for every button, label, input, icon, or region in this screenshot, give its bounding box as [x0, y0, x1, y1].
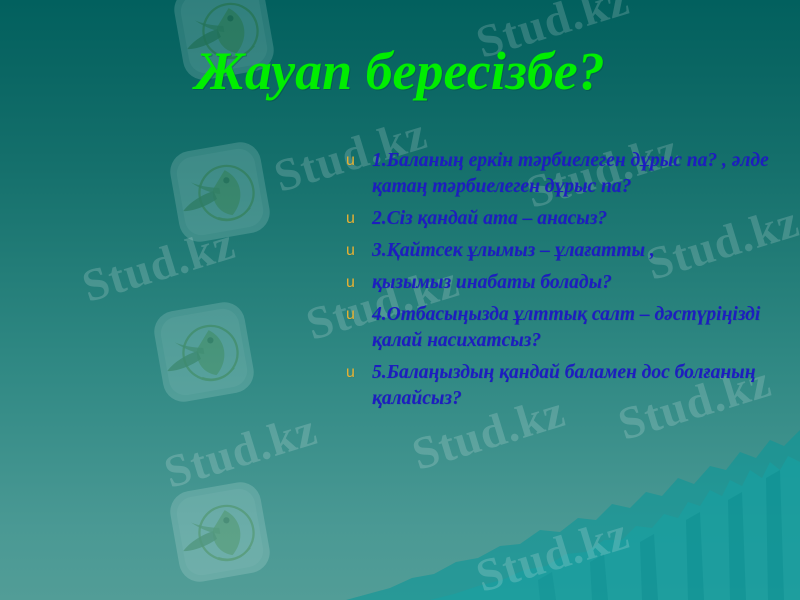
list-item: u 3.Қайтсек ұлымыз – ұлағатты , — [340, 238, 780, 264]
list-item-label: 2.Сіз қандай ата – анасыз? — [372, 208, 607, 229]
bullet-marker-icon: u — [346, 240, 355, 262]
list-item-label: 1.Баланың еркін тәрбиелеген дұрыс па? , … — [372, 150, 769, 197]
list-item-label: қызымыз инабаты болады? — [372, 272, 612, 293]
bullet-marker-icon: u — [346, 150, 355, 172]
bullet-marker-icon: u — [346, 304, 355, 326]
slide-title: Жауап бересізбе? — [0, 40, 800, 102]
bullet-marker-icon: u — [346, 272, 355, 294]
list-item-label: 4.Отбасыңызда ұлттық салт – дәстүріңізді… — [372, 304, 760, 351]
bullet-marker-icon: u — [346, 362, 355, 384]
slide-canvas: Stud.kz Stud.kz Stud.kz Stud.kz Stud.kz … — [0, 0, 800, 600]
list-item: u 4.Отбасыңызда ұлттық салт – дәстүріңіз… — [340, 302, 780, 354]
list-item: u 2.Сіз қандай ата – анасыз? — [340, 206, 780, 232]
question-bullet-list: u 1.Баланың еркін тәрбиелеген дұрыс па? … — [340, 148, 780, 418]
list-item: u қызымыз инабаты болады? — [340, 270, 780, 296]
list-item: u 1.Баланың еркін тәрбиелеген дұрыс па? … — [340, 148, 780, 200]
list-item-label: 3.Қайтсек ұлымыз – ұлағатты , — [372, 240, 655, 261]
slide-content: Жауап бересізбе? u 1.Баланың еркін тәрби… — [0, 0, 800, 600]
list-item-label: 5.Балаңыздың қандай баламен дос болғаның… — [372, 362, 756, 409]
list-item: u 5.Балаңыздың қандай баламен дос болған… — [340, 360, 780, 412]
bullet-marker-icon: u — [346, 208, 355, 230]
